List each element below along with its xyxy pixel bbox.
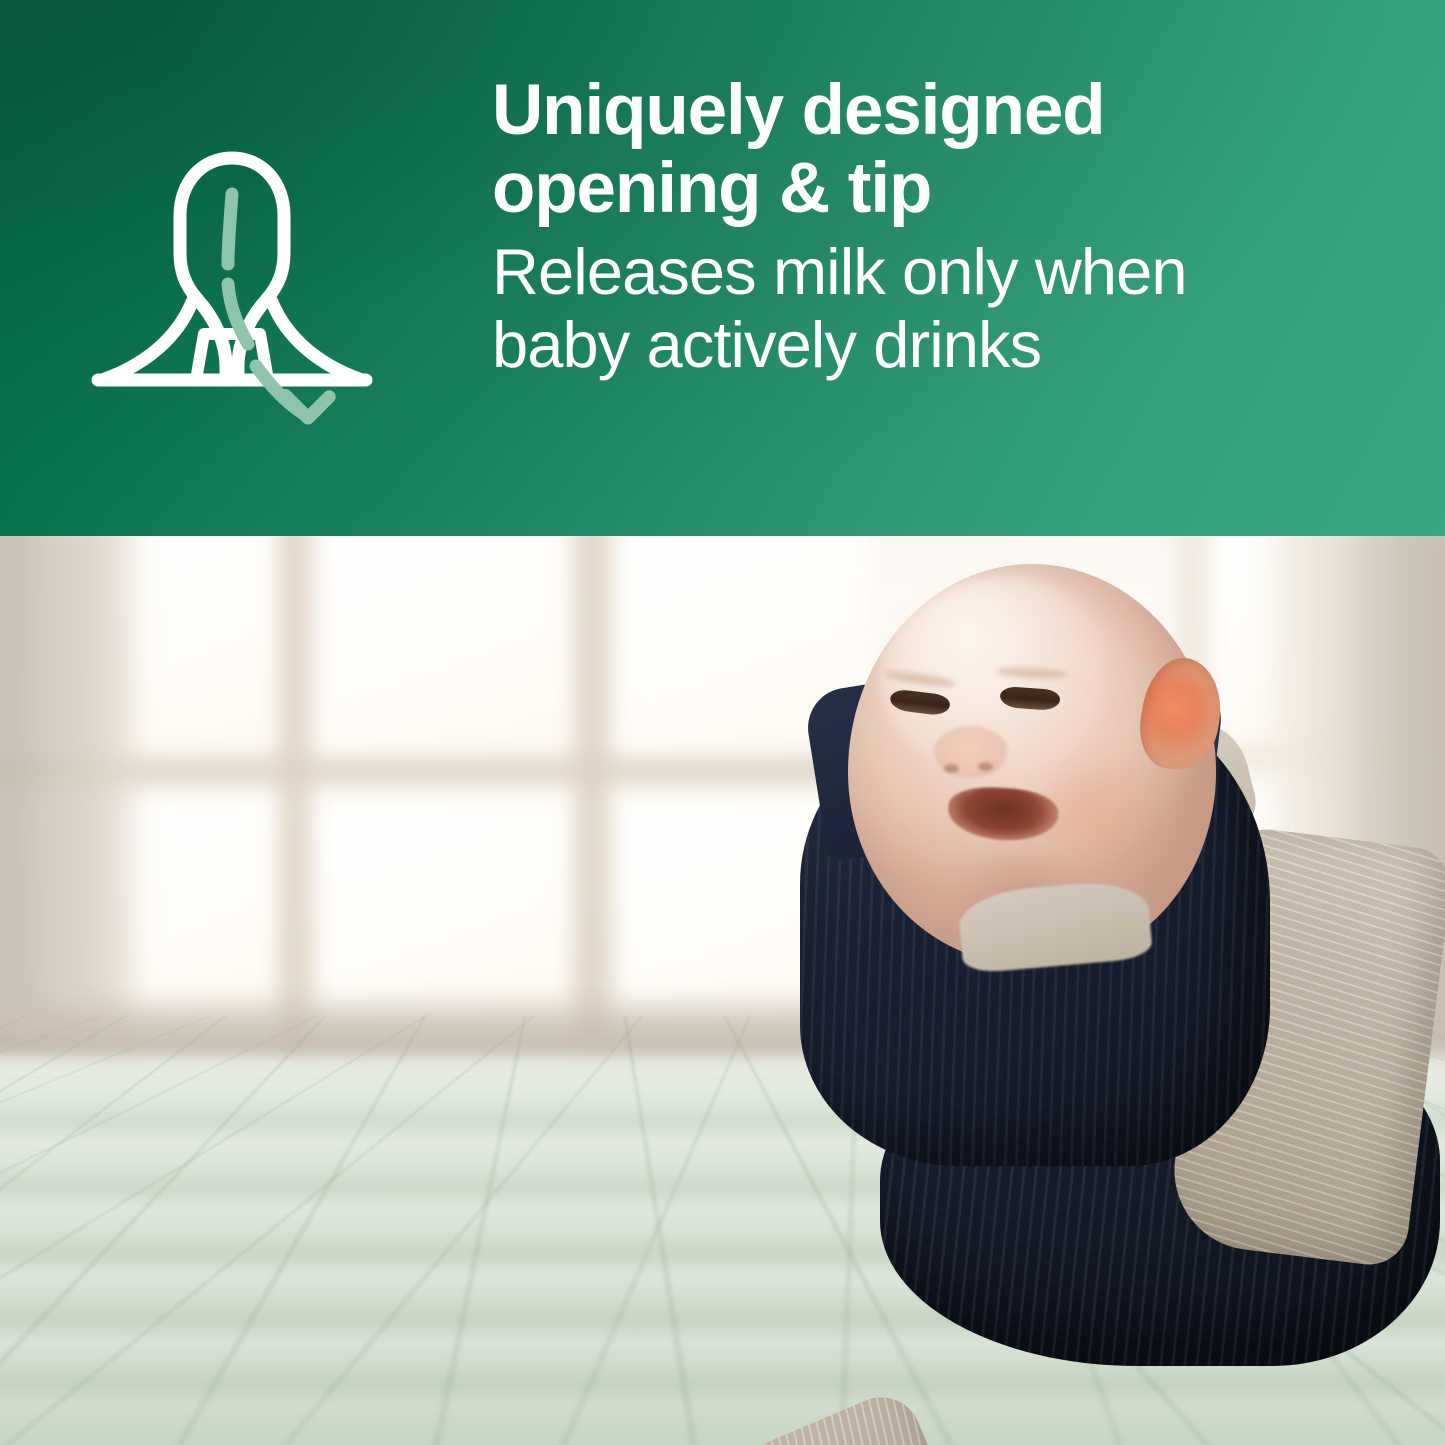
baby-nostril-right bbox=[978, 762, 993, 771]
product-feature-card: Uniquely designed opening & tip Releases… bbox=[0, 0, 1445, 1445]
feature-headline: Uniquely designed opening & tip bbox=[492, 72, 1382, 229]
feature-text-block: Uniquely designed opening & tip Releases… bbox=[492, 72, 1382, 382]
baby-left-sleeve bbox=[599, 1385, 956, 1445]
baby bbox=[0, 536, 1445, 1445]
baby-cheek bbox=[1022, 752, 1160, 872]
lifestyle-photo: PHILIPS AVENT bbox=[0, 536, 1445, 1445]
feature-banner: Uniquely designed opening & tip Releases… bbox=[0, 0, 1445, 536]
baby-nostril-left bbox=[944, 764, 959, 773]
feature-subline: Releases milk only when baby actively dr… bbox=[492, 235, 1382, 382]
bottle-teat-flow-icon bbox=[80, 112, 430, 432]
